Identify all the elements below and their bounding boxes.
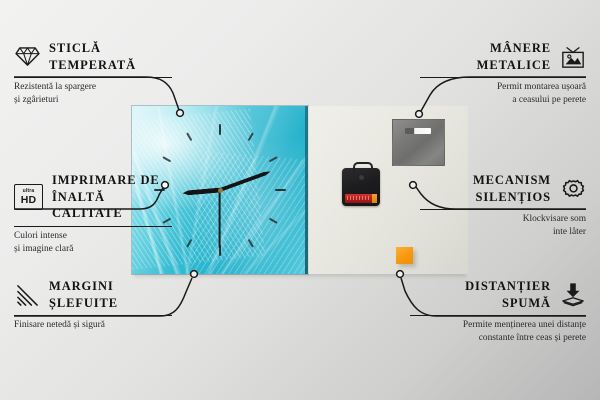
- callout-spacer-subtitle: Permite menținerea unei distanțe constan…: [410, 319, 586, 345]
- callout-edges-rule: [14, 315, 172, 316]
- clock-center-cap: [218, 188, 223, 193]
- product-infographic: STICLĂ TEMPERATĂ Rezistentă la spargere …: [0, 0, 600, 400]
- foam-spacer: [396, 247, 413, 264]
- foam-spacer-icon: [560, 282, 586, 308]
- callout-handles: MÂNERE METALICE Permit montarea ușoară a…: [420, 40, 586, 107]
- callout-edges-title: MARGINI ȘLEFUITE: [49, 278, 118, 311]
- callout-edges: MARGINI ȘLEFUITE Finisare netedă și sigu…: [14, 278, 172, 332]
- metal-hanger-plate: [392, 119, 445, 166]
- battery: [345, 194, 377, 203]
- hanger-slot: [405, 128, 431, 134]
- callout-handles-title: MÂNERE METALICE: [477, 40, 551, 73]
- battery-label: [347, 196, 369, 200]
- callout-glass-title: STICLĂ TEMPERATĂ: [49, 40, 136, 73]
- ultra-hd-icon: ultra HD: [14, 184, 43, 210]
- polished-edges-icon: [14, 282, 40, 308]
- callout-handles-subtitle: Permit montarea ușoară a ceasului pe per…: [420, 81, 586, 107]
- callout-glass-subtitle: Rezistentă la spargere și zgârieturi: [14, 81, 172, 107]
- callout-spacer: DISTANȚIER SPUMĂ Permite menținerea unei…: [410, 278, 586, 345]
- callout-glass-rule: [14, 77, 172, 78]
- callout-mechanism-rule: [420, 209, 586, 210]
- quartz-clock-mechanism: [342, 168, 380, 206]
- callout-mechanism-title: MECANISM SILENȚIOS: [473, 172, 551, 205]
- clock-second-hand: [219, 190, 221, 248]
- callout-edges-subtitle: Finisare netedă și sigură: [14, 319, 172, 332]
- callout-print-rule: [14, 226, 172, 227]
- mechanism-shaft: [359, 175, 364, 180]
- callout-mechanism-subtitle: Klockvisare som inte låter: [420, 213, 586, 239]
- product-stage: [132, 106, 468, 274]
- callout-print-title: IMPRIMARE DE ÎNALTĂ CALITATE: [52, 172, 172, 222]
- callout-print-subtitle: Culori intense și imagine clară: [14, 230, 172, 256]
- callout-spacer-title: DISTANȚIER SPUMĂ: [465, 278, 551, 311]
- battery-positive-tip: [372, 194, 377, 203]
- callout-print: ultra HD IMPRIMARE DE ÎNALTĂ CALITATE Cu…: [14, 172, 172, 256]
- callout-mechanism: MECANISM SILENȚIOS Klockvisare som inte …: [420, 172, 586, 239]
- gear-icon: [560, 176, 586, 202]
- callout-handles-rule: [420, 77, 586, 78]
- mechanism-hanging-loop: [353, 162, 373, 173]
- diamond-icon: [14, 44, 40, 70]
- picture-hanger-icon: [560, 44, 586, 70]
- callout-spacer-rule: [410, 315, 586, 316]
- callout-glass: STICLĂ TEMPERATĂ Rezistentă la spargere …: [14, 40, 172, 107]
